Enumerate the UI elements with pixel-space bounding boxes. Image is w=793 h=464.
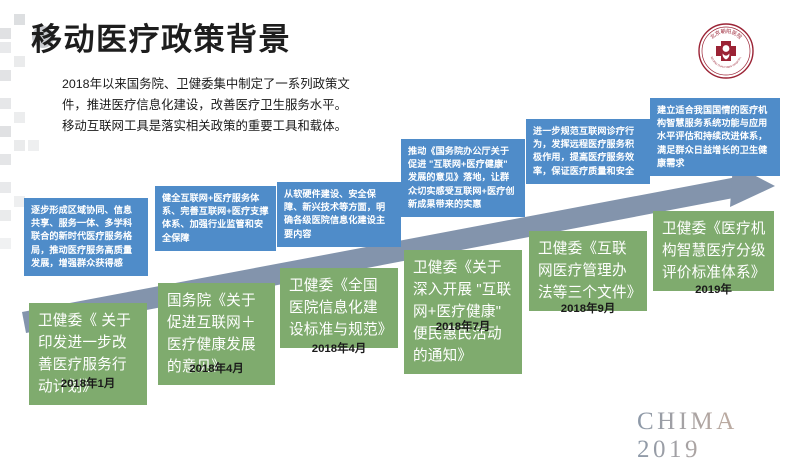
step-description-1: 逐步形成区域协同、信息共享、服务一体、多学科联合的新时代医疗服务格局，推动医疗服…	[24, 198, 148, 276]
step-date-4: 2018年7月	[404, 318, 522, 334]
step-policy-4: 卫健委《关于深入开展 "互联网+医疗健康" 便民惠民活动的通知》	[404, 250, 522, 374]
step-description-6: 建立适合我国国情的医疗机构智慧服务系统功能与应用水平评估和持续改进体系，满足群众…	[650, 98, 780, 176]
step-policy-5: 卫健委《互联网医疗管理办法等三个文件》	[529, 231, 647, 311]
hospital-logo: 北京朝阳医院 BEIJING CHAO-YANG HOSPITAL	[697, 22, 755, 80]
step-policy-3: 卫健委《全国医院信息化建设标准与规范》	[280, 268, 398, 348]
step-description-5: 进一步规范互联网诊疗行为，发挥远程医疗服务积极作用，提高医疗服务效率，保证医疗质…	[526, 119, 650, 184]
step-description-2: 健全互联网+医疗服务体系、完善互联网+医疗支撑体系、加强行业监管和安全保障	[155, 186, 276, 251]
intro-line-1: 2018年以来国务院、卫健委集中制定了一系列政策文	[62, 74, 492, 95]
intro-paragraph: 2018年以来国务院、卫健委集中制定了一系列政策文 件，推进医疗信息化建设，改善…	[62, 74, 492, 137]
step-description-4: 推动《国务院办公厅关于促进 "互联网+医疗健康" 发展的意见》落地，让群众切实感…	[401, 139, 525, 217]
step-policy-6: 卫健委《医疗机构智慧医疗分级评价标准体系》	[653, 211, 774, 291]
footer-brand: CHIMA 2019	[637, 408, 793, 464]
step-date-1: 2018年1月	[29, 375, 147, 391]
intro-line-3: 移动互联网工具是落实相关政策的重要工具和载体。	[62, 116, 492, 137]
step-date-3: 2018年4月	[280, 340, 398, 356]
step-date-2: 2018年4月	[158, 360, 275, 376]
step-date-6: 2019年	[653, 281, 774, 297]
step-description-3: 从软硬件建设、安全保障、新兴技术等方面，明确各级医院信息化建设主要内容	[277, 182, 401, 247]
step-date-5: 2018年9月	[529, 300, 647, 316]
intro-line-2: 件，推进医疗信息化建设，改善医疗卫生服务水平。	[62, 95, 492, 116]
page-title: 移动医疗政策背景	[31, 14, 291, 59]
svg-text:北京朝阳医院: 北京朝阳医院	[708, 27, 744, 41]
